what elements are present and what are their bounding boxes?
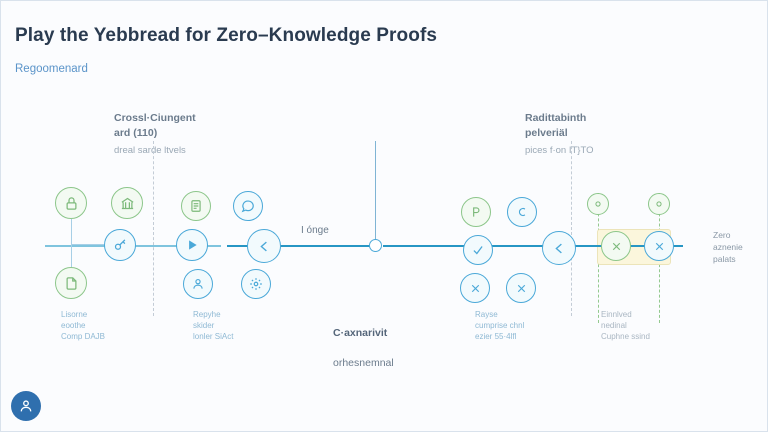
n-g-top-2[interactable]: [648, 193, 670, 215]
n-c-1[interactable]: [507, 197, 537, 227]
n-file-1[interactable]: [55, 267, 87, 299]
close-icon: [653, 240, 666, 253]
center-vertical-line: [375, 141, 376, 246]
n-play-1[interactable]: [176, 229, 208, 261]
n-close-2[interactable]: [460, 273, 490, 303]
x-icon: [515, 282, 528, 295]
n-person-1[interactable]: [183, 269, 213, 299]
close-icon: [610, 240, 623, 253]
n-chevron-1[interactable]: [247, 229, 281, 263]
bank-icon: [120, 196, 135, 211]
n-check-1[interactable]: [463, 235, 493, 265]
page-title: Play the Yebbread for Zero–Knowledge Pro…: [15, 25, 437, 47]
n-key-1[interactable]: [104, 229, 136, 261]
p-badge-icon: [469, 205, 483, 219]
person-icon: [191, 277, 205, 291]
n-chat-1[interactable]: [233, 191, 263, 221]
mid-left-caption: Repyhe skider lonler SiAct: [193, 309, 233, 342]
person-badge-icon: [18, 398, 34, 414]
left-cluster-caption: Lisorne eoothe Comp DAJB: [61, 309, 105, 342]
separator-right-1: [571, 141, 572, 316]
center-label: C·axnarivit orhesnemnal: [333, 311, 394, 386]
spine-label: I ónge: [301, 223, 329, 238]
n-chevron-2[interactable]: [542, 231, 576, 265]
n-p-1[interactable]: [461, 197, 491, 227]
section-heading-ratitabinth-line2: pelveriäl: [525, 126, 568, 141]
n-x-1[interactable]: [506, 273, 536, 303]
n-close-3[interactable]: [601, 231, 631, 261]
circle-dot-icon: [593, 199, 603, 209]
connector-left-vertical: [71, 219, 72, 267]
page-subtitle: Regoomenard: [15, 63, 88, 75]
separator-left: [153, 141, 154, 316]
n-g-top-1[interactable]: [587, 193, 609, 215]
right-caption: Einnlved nedinal Cuphne ssind: [601, 309, 650, 342]
chat-icon: [241, 199, 255, 213]
n-doc-1[interactable]: [181, 191, 211, 221]
key-icon: [113, 238, 128, 253]
section-heading-ratitabinth-line1: Radittabinth: [525, 111, 586, 126]
avatar-badge[interactable]: [11, 391, 41, 421]
c-badge-icon: [515, 205, 529, 219]
n-lock-1[interactable]: [55, 187, 87, 219]
document-icon: [189, 199, 203, 213]
end-label: Zero aznenie palats: [713, 229, 743, 265]
n-bank-1[interactable]: [111, 187, 143, 219]
mid-right-caption: Rayse cumprise chnl ezier 55·4lfl: [475, 309, 524, 342]
section-heading-cross-current-line2: ard (110): [114, 126, 157, 141]
gear-icon: [249, 277, 263, 291]
center-label-line2: orhesnemnal: [333, 356, 394, 371]
chevron-left-icon: [257, 239, 272, 254]
spine-right: [383, 245, 683, 247]
play-icon: [185, 238, 199, 252]
check-icon: [471, 243, 485, 257]
file-icon: [64, 276, 79, 291]
n-hub[interactable]: [369, 239, 382, 252]
circle-dot-icon: [654, 199, 664, 209]
n-gear-1[interactable]: [241, 269, 271, 299]
n-close-4[interactable]: [644, 231, 674, 261]
section-heading-cross-current-line1: Crossl·Ciungent: [114, 111, 196, 126]
close-icon: [469, 282, 482, 295]
diagram-canvas: Play the Yebbread for Zero–Knowledge Pro…: [0, 0, 768, 432]
chevron-left-icon: [552, 241, 567, 256]
connector-left-horizontal: [71, 244, 104, 245]
center-label-line1: C·axnarivit: [333, 326, 394, 341]
lock-icon: [64, 196, 79, 211]
section-sub-cross-current: dreal sarde ltvels: [114, 144, 186, 158]
section-sub-ratitabinth: pices f·on IT}TO: [525, 144, 593, 158]
